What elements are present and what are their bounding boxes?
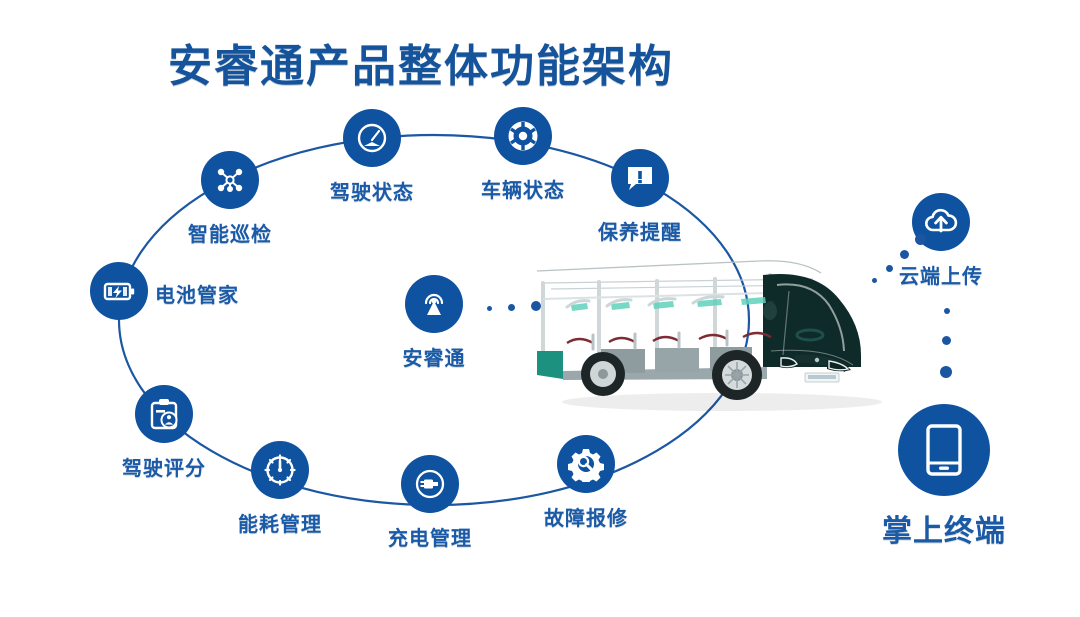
node-label: 充电管理 <box>388 522 472 551</box>
speedometer-icon <box>343 109 401 167</box>
node-label: 智能巡检 <box>188 218 272 247</box>
gauge-clock-icon <box>251 441 309 499</box>
mobile-phone-icon <box>898 404 990 496</box>
flow-dot <box>940 366 952 378</box>
flow-dot <box>487 306 492 311</box>
node-label: 驾驶评分 <box>122 452 206 481</box>
flow-dot <box>942 336 951 345</box>
node-label: 云端上传 <box>899 260 983 289</box>
node-label: 车辆状态 <box>481 174 565 203</box>
clipboard-person-icon <box>135 385 193 443</box>
broadcast-antenna-icon <box>405 275 463 333</box>
flow-dot <box>915 234 926 245</box>
flow-dot <box>508 304 515 311</box>
shuttle-bus-illustration: 0%#46c4a8 55%#31b297 100%#1f8f79 0%#6ed3… <box>527 239 899 411</box>
node-label: 安睿通 <box>403 342 466 371</box>
node-label: 驾驶状态 <box>330 176 414 205</box>
node-label: 电池管家 <box>155 279 239 308</box>
node-label: 故障报修 <box>544 502 628 531</box>
network-nodes-icon <box>201 151 259 209</box>
flow-dot <box>900 250 909 259</box>
flow-dot <box>872 278 877 283</box>
battery-charge-icon <box>90 262 148 320</box>
gear-wrench-icon <box>557 435 615 493</box>
charging-plug-icon <box>401 455 459 513</box>
infographic-canvas: 安睿通产品整体功能架构 0%#46c4a8 55%#31b297 100%#1f… <box>0 0 1080 617</box>
node-label: 掌上终端 <box>882 506 1006 550</box>
wheel-icon <box>494 107 552 165</box>
node-label: 保养提醒 <box>598 216 682 245</box>
flow-dot <box>886 265 893 272</box>
flow-dot <box>944 308 950 314</box>
node-label: 能耗管理 <box>238 508 322 537</box>
flow-dot <box>531 301 541 311</box>
alert-bubble-icon <box>611 149 669 207</box>
